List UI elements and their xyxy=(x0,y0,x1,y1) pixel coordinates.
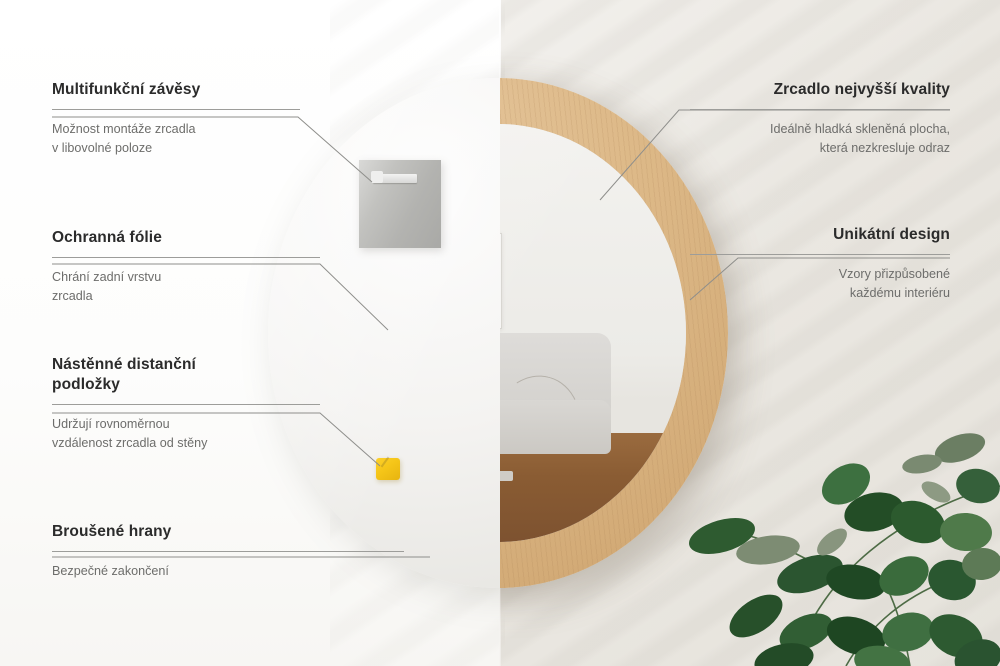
callout-multifunkcni-zavesy: Multifunkční závěsy Možnost montáže zrca… xyxy=(52,80,300,158)
callout-rule xyxy=(52,551,404,552)
callout-title: Broušené hrany xyxy=(52,522,404,542)
callout-description-line: Chrání zadní vrstvu xyxy=(52,268,320,287)
callout-description-line: Možnost montáže zrcadla xyxy=(52,120,300,139)
callout-title: Ochranná fólie xyxy=(52,228,320,248)
hanger-bracket xyxy=(359,160,441,248)
callout-rule xyxy=(52,109,300,110)
callout-description: Bezpečné zakončení xyxy=(52,562,404,581)
callout-rule xyxy=(52,404,320,405)
callout-description-line: která nezkresluje odraz xyxy=(690,139,950,158)
callout-brousene-hrany: Broušené hrany Bezpečné zakončení xyxy=(52,522,404,581)
callout-title: Zrcadlo nejvyšší kvality xyxy=(690,80,950,100)
callout-title-line: Nástěnné distanční xyxy=(52,355,320,375)
callout-description-line: v libovolné poloze xyxy=(52,139,300,158)
mirror-glass xyxy=(500,124,686,542)
callout-description-line: Ideálně hladká skleněná plocha, xyxy=(690,120,950,139)
callout-description-line: každému interiéru xyxy=(690,284,950,303)
callout-description-line: vzdálenost zrcadla od stěny xyxy=(52,434,320,453)
infographic-stage: Multifunkční závěsy Možnost montáže zrca… xyxy=(0,0,1000,666)
foliage-leaves xyxy=(685,428,1000,666)
callout-description-line: zrcadla xyxy=(52,287,320,306)
callout-description: Udržují rovnoměrnou vzdálenost zrcadla o… xyxy=(52,415,320,453)
callout-title: Multifunkční závěsy xyxy=(52,80,300,100)
callout-nastenne-distancni-podlozky: Nástěnné distanční podložky Udržují rovn… xyxy=(52,355,320,453)
callout-description: Vzory přizpůsobené každému interiéru xyxy=(690,265,950,303)
bracket-keyhole-opening xyxy=(371,171,383,183)
callout-description-line: Vzory přizpůsobené xyxy=(690,265,950,284)
callout-ochranna-folie: Ochranná fólie Chrání zadní vrstvu zrcad… xyxy=(52,228,320,306)
callout-unikatni-design: Unikátní design Vzory přizpůsobené každé… xyxy=(690,225,950,303)
callout-rule xyxy=(690,109,950,110)
foliage-decoration xyxy=(660,336,1000,666)
callout-rule xyxy=(690,254,950,255)
callout-rule xyxy=(52,257,320,258)
callout-title: Nástěnné distanční podložky xyxy=(52,355,320,395)
glass-reflection-sheen xyxy=(500,124,686,542)
callout-description: Ideálně hladká skleněná plocha, která ne… xyxy=(690,120,950,158)
yellow-spacer-washer xyxy=(376,458,400,480)
callout-description: Možnost montáže zrcadla v libovolné polo… xyxy=(52,120,300,158)
callout-zrcadlo-nejvyssi-kvality: Zrcadlo nejvyšší kvality Ideálně hladká … xyxy=(690,80,950,158)
callout-description-line: Bezpečné zakončení xyxy=(52,562,404,581)
callout-description: Chrání zadní vrstvu zrcadla xyxy=(52,268,320,306)
callout-title-line: podložky xyxy=(52,375,320,395)
callout-description-line: Udržují rovnoměrnou xyxy=(52,415,320,434)
callout-title: Unikátní design xyxy=(690,225,950,245)
